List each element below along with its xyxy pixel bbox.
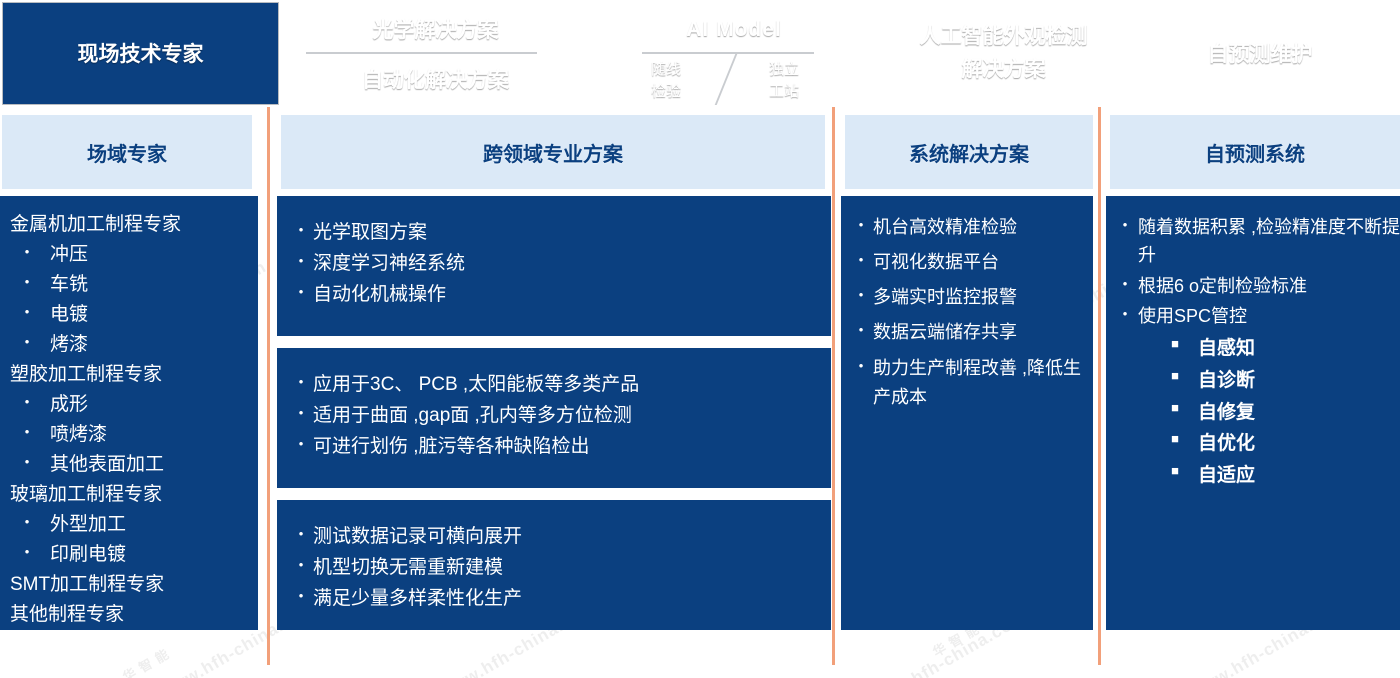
list-item-label: 助力生产制程改善 ,降低生产成本 [869,354,1093,412]
bullet-dot-icon: • [8,450,46,480]
group-item-label: 印刷电镀 [46,540,250,570]
header-stage-self-predictive-maintenance[interactable]: 自预测维护 [1124,2,1400,105]
column-divider-3 [1098,107,1101,665]
sub-list-item: ■自优化 [1106,428,1400,460]
list-item: •多端实时监控报警 [841,283,1093,312]
expert-groups: 金属机加工制程专家 •冲压 •车铣 •电镀 •烤漆 塑胶加工制程专家 •成形 •… [8,210,250,630]
group-item: •车铣 [8,270,250,300]
list-item-label: 机台高效精准检验 [869,213,1093,242]
list-item-label: 适用于曲面 ,gap面 ,孔内等多方位检测 [309,401,831,432]
bullet-dot-icon: • [8,240,46,270]
group-item-label: 车铣 [46,270,250,300]
list-item: •可进行划伤 ,脏污等各种缺陷检出 [277,432,831,463]
panel-flexibility: •测试数据记录可横向展开 •机型切换无需重新建模 •满足少量多样柔性化生产 [277,500,831,630]
list-item-label: 自动化机械操作 [309,280,831,311]
capability-list: •测试数据记录可横向展开 •机型切换无需重新建模 •满足少量多样柔性化生产 [277,522,831,614]
group-item: •成形 [8,390,250,420]
subtitle-system-solution[interactable]: 系统解决方案 [845,115,1093,189]
group-item: •冲压 [8,240,250,270]
list-item: •应用于3C、 PCB ,太阳能板等多类产品 [277,370,831,401]
watermark: 华 智 能 [119,643,173,678]
bullet-dot-icon: • [1116,272,1134,295]
bullet-dot-icon: • [293,249,309,273]
list-item-label: 测试数据记录可横向展开 [309,522,831,553]
group-heading: 金属机加工制程专家 [8,210,250,240]
bullet-dot-icon: • [853,213,869,237]
bullet-dot-icon: • [293,584,309,608]
group-heading: 其他制程专家 [8,600,250,630]
subtitle-domain-expert[interactable]: 场域专家 [2,115,252,189]
stage-sub-right-line2: 工站 [742,81,826,103]
subtitle-label: 自预测系统 [1205,138,1305,167]
bullet-dot-icon: • [293,553,309,577]
bullet-dot-icon: • [853,354,869,378]
bullet-dot-icon: • [1116,213,1134,236]
bullet-dot-icon: • [293,401,309,425]
group-item-label: 其他表面加工 [46,450,250,480]
group-item: •电镀 [8,300,250,330]
bullet-dot-icon: • [293,218,309,242]
header-stage-ai-visual-inspection[interactable]: 人工智能外观检测 解决方案 [861,2,1136,105]
group-item-label: 冲压 [46,240,250,270]
subtitle-label: 跨领域专业方案 [483,138,623,167]
stage-label-line1: 人工智能外观检测 [887,24,1120,51]
subtitle-self-predictive-system[interactable]: 自预测系统 [1110,115,1400,189]
subtitle-label: 场域专家 [87,138,167,167]
stage-row-separator [306,52,537,54]
panel-system-solution: •机台高效精准检验 •可视化数据平台 •多端实时监控报警 •数据云端储存共享 •… [841,196,1093,630]
stage-label-line2: 解决方案 [887,57,1120,84]
list-item: •根据6 o定制检验标准 [1106,272,1400,300]
panel-application-scope: •应用于3C、 PCB ,太阳能板等多类产品 • 适用于曲面 ,gap面 ,孔内… [277,348,831,488]
panel-self-predictive-system: • 随着数据积累 ,检验精准度不断提升 •根据6 o定制检验标准 •使用SPC管… [1106,196,1400,630]
list-item-label: 满足少量多样柔性化生产 [309,584,831,615]
sub-list-item-label: 自优化 [1188,428,1400,460]
bullet-dot-icon: • [8,300,46,330]
stage-sub-left-line1: 随线 [624,59,708,81]
column-divider-1 [267,107,270,665]
sub-list-item: ■自修复 [1106,397,1400,429]
group-item: •烤漆 [8,330,250,360]
column-divider-2 [832,107,835,665]
list-item: •深度学习神经系统 [277,249,831,280]
stage-sub-divider [715,54,738,105]
sub-list-item: ■自诊断 [1106,365,1400,397]
bullet-dot-icon: • [8,270,46,300]
bullet-dot-icon: • [8,510,46,540]
bullet-square-icon: ■ [1162,428,1188,451]
bullet-dot-icon: • [293,432,309,456]
list-item: •机台高效精准检验 [841,213,1093,242]
sub-list-item-label: 自感知 [1188,333,1400,365]
bullet-square-icon: ■ [1162,460,1188,483]
header-stage-ai-model[interactable]: AI Model 随线 检验 独立 工站 [602,2,872,105]
list-item-label: 机型切换无需重新建模 [309,553,831,584]
bullet-square-icon: ■ [1162,397,1188,420]
group-item-label: 成形 [46,390,250,420]
stage-sub-right-line1: 独立 [742,59,826,81]
group-item-label: 烤漆 [46,330,250,360]
sub-list-item-label: 自诊断 [1188,365,1400,397]
header-stage-field-technical-expert[interactable]: 现场技术专家 [2,2,279,105]
list-item: • 助力生产制程改善 ,降低生产成本 [841,354,1093,412]
infographic-canvas: www.hfh-china.com 华 智 能 www.hfh-china.co… [0,0,1400,678]
list-item-label: 深度学习神经系统 [309,249,831,280]
group-item: •印刷电镀 [8,540,250,570]
bullet-dot-icon: • [8,330,46,360]
bullet-dot-icon: • [293,370,309,394]
list-item-label: 可进行划伤 ,脏污等各种缺陷检出 [309,432,831,463]
bullet-dot-icon: • [853,248,869,272]
list-item-label: 随着数据积累 ,检验精准度不断提升 [1134,213,1400,270]
group-item: •外型加工 [8,510,250,540]
stage-shape [2,2,279,105]
list-item: •机型切换无需重新建模 [277,553,831,584]
list-item: • 适用于曲面 ,gap面 ,孔内等多方位检测 [277,401,831,432]
group-item-label: 电镀 [46,300,250,330]
stage-top-label: 光学解决方案 [298,18,573,45]
group-item: •喷烤漆 [8,420,250,450]
stage-row-separator [642,52,814,54]
group-heading: SMT加工制程专家 [8,570,250,600]
bullet-dot-icon: • [293,522,309,546]
system-feature-list: •机台高效精准检验 •可视化数据平台 •多端实时监控报警 •数据云端储存共享 •… [841,213,1093,412]
list-item-label: 根据6 o定制检验标准 [1134,272,1400,300]
capability-list: •应用于3C、 PCB ,太阳能板等多类产品 • 适用于曲面 ,gap面 ,孔内… [277,370,831,462]
group-item: •其他表面加工 [8,450,250,480]
group-heading: 玻璃加工制程专家 [8,480,250,510]
bullet-dot-icon: • [293,280,309,304]
group-item-label: 外型加工 [46,510,250,540]
list-item-label: 应用于3C、 PCB ,太阳能板等多类产品 [309,370,831,401]
list-item: • 随着数据积累 ,检验精准度不断提升 [1106,213,1400,270]
group-item-label: 喷烤漆 [46,420,250,450]
bullet-dot-icon: • [8,540,46,570]
stage-sub-left-line2: 检验 [624,81,708,103]
capability-list: •光学取图方案 •深度学习神经系统 • 自动化机械操作 [277,218,831,310]
list-item: •可视化数据平台 [841,248,1093,277]
group-heading: 塑胶加工制程专家 [8,360,250,390]
list-item-label: 光学取图方案 [309,218,831,249]
bullet-dot-icon: • [1116,302,1134,325]
stage-bottom-label: 自动化解决方案 [298,68,573,95]
sub-list-item: ■自适应 [1106,460,1400,492]
list-item-label: 多端实时监控报警 [869,283,1093,312]
subtitle-label: 系统解决方案 [909,138,1029,167]
panel-optical-capabilities: •光学取图方案 •深度学习神经系统 • 自动化机械操作 [277,196,831,336]
bullet-dot-icon: • [853,283,869,307]
stage-title: AI Model [626,17,842,44]
bullet-square-icon: ■ [1162,365,1188,388]
stage-label: 自预测维护 [1144,42,1376,69]
list-item: •使用SPC管控 [1106,302,1400,330]
header-stage-optical-automation[interactable]: 光学解决方案 自动化解决方案 [268,2,613,105]
sub-list-item-label: 自适应 [1188,460,1400,492]
list-item-label: 使用SPC管控 [1134,302,1400,330]
bullet-dot-icon: • [8,420,46,450]
bullet-dot-icon: • [8,390,46,420]
bullet-dot-icon: • [853,318,869,342]
list-item: •光学取图方案 [277,218,831,249]
panel-domain-expert-list: 金属机加工制程专家 •冲压 •车铣 •电镀 •烤漆 塑胶加工制程专家 •成形 •… [0,196,258,630]
list-item-label: 数据云端储存共享 [869,318,1093,347]
list-item: •满足少量多样柔性化生产 [277,584,831,615]
predictive-feature-list: • 随着数据积累 ,检验精准度不断提升 •根据6 o定制检验标准 •使用SPC管… [1106,213,1400,492]
list-item-label: 可视化数据平台 [869,248,1093,277]
list-item: •数据云端储存共享 [841,318,1093,347]
sub-list-item-label: 自修复 [1188,397,1400,429]
list-item: •测试数据记录可横向展开 [277,522,831,553]
sub-list-item: ■自感知 [1106,333,1400,365]
list-item: • 自动化机械操作 [277,280,831,311]
bullet-square-icon: ■ [1162,333,1188,356]
subtitle-cross-domain-solution[interactable]: 跨领域专业方案 [281,115,825,189]
